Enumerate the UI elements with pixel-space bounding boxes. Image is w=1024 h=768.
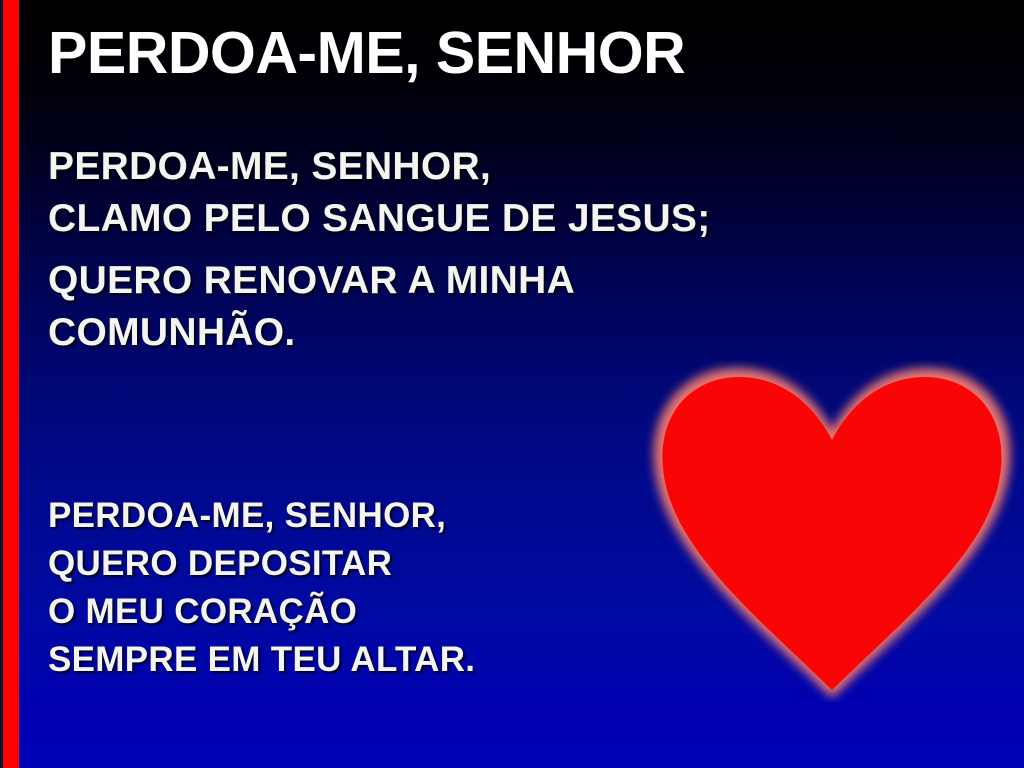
left-accent-bar — [3, 0, 19, 768]
lyric-line: PERDOA-ME, SENHOR, — [48, 492, 475, 540]
heart-icon — [645, 360, 1020, 702]
lyric-line-spacer — [48, 245, 711, 255]
lyric-line: COMUNHÃO. — [48, 307, 711, 359]
lyric-line: CLAMO PELO SANGUE DE JESUS; — [48, 193, 711, 245]
lyric-line: O MEU CORAÇÃO — [48, 588, 475, 636]
lyric-line: QUERO RENOVAR A MINHA — [48, 255, 711, 307]
lyric-line: QUERO DEPOSITAR — [48, 540, 475, 588]
page-title: PERDOA-ME, SENHOR — [48, 23, 928, 85]
lyric-line: SEMPRE EM TEU ALTAR. — [48, 636, 475, 684]
lyrics-stanza-1: PERDOA-ME, SENHOR, CLAMO PELO SANGUE DE … — [48, 141, 711, 359]
slide-canvas: PERDOA-ME, SENHOR PERDOA-ME, SENHOR, CLA… — [0, 0, 1024, 768]
lyrics-stanza-2: PERDOA-ME, SENHOR, QUERO DEPOSITAR O MEU… — [48, 492, 475, 684]
lyric-line: PERDOA-ME, SENHOR, — [48, 141, 711, 193]
